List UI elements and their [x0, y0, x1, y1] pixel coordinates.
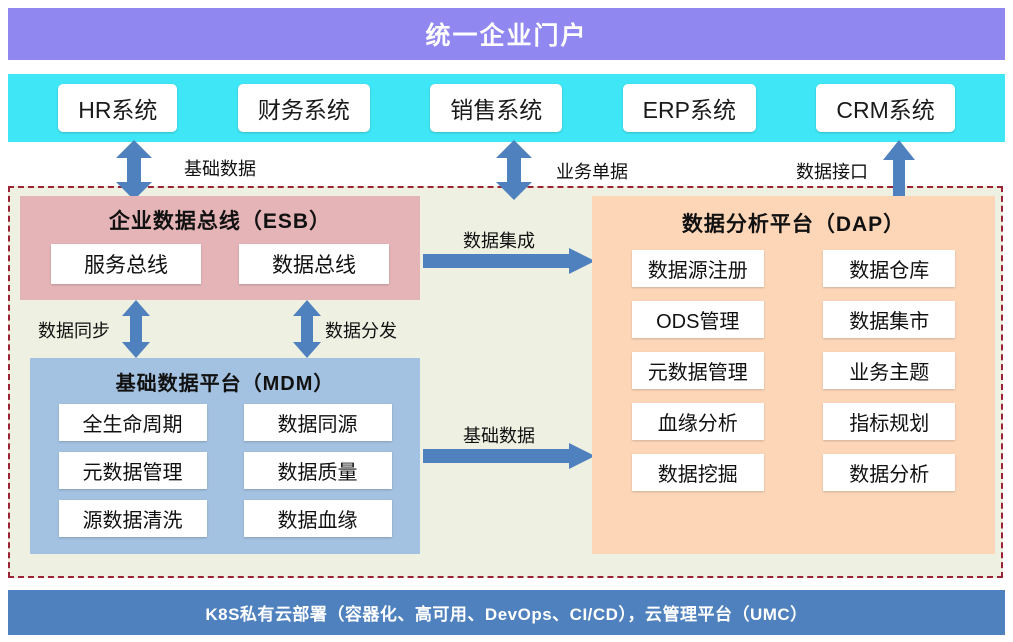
arrow-data-dispatch-vertical [290, 300, 324, 358]
arrow-basic-data-vertical [112, 140, 156, 200]
dap-chip-data-analysis[interactable]: 数据分析 [823, 454, 955, 491]
dap-chip-metadata-mgmt[interactable]: 元数据管理 [632, 352, 764, 389]
system-chip-finance[interactable]: 财务系统 [238, 84, 370, 132]
dap-chip-metric-planning[interactable]: 指标规划 [823, 403, 955, 440]
mdm-chip-grid: 全生命周期 元数据管理 源数据清洗 数据同源 数据质量 数据血缘 [30, 404, 420, 537]
dap-panel: 数据分析平台（DAP） 数据源注册 ODS管理 元数据管理 血缘分析 数据挖掘 … [592, 196, 995, 554]
mdm-chip-lifecycle[interactable]: 全生命周期 [59, 404, 207, 441]
dap-chip-business-subject[interactable]: 业务主题 [823, 352, 955, 389]
mdm-title: 基础数据平台（MDM） [30, 358, 420, 396]
mdm-chip-data-quality[interactable]: 数据质量 [244, 452, 392, 489]
dap-column-left: 数据源注册 ODS管理 元数据管理 血缘分析 数据挖掘 [632, 250, 764, 491]
esb-chip-data-bus[interactable]: 数据总线 [239, 244, 389, 284]
esb-title: 企业数据总线（ESB） [20, 196, 420, 235]
systems-band: HR系统 财务系统 销售系统 ERP系统 CRM系统 [8, 74, 1005, 142]
mdm-chip-data-homology[interactable]: 数据同源 [244, 404, 392, 441]
label-business-doc: 业务单据 [556, 158, 628, 184]
dap-chip-lineage-analysis[interactable]: 血缘分析 [632, 403, 764, 440]
arrow-data-sync-vertical [119, 300, 153, 358]
architecture-diagram: 统一企业门户 HR系统 财务系统 销售系统 ERP系统 CRM系统 基础数据 业… [0, 0, 1013, 642]
dap-title: 数据分析平台（DAP） [592, 196, 995, 238]
mdm-chip-source-cleaning[interactable]: 源数据清洗 [59, 500, 207, 537]
infrastructure-bar: K8S私有云部署（容器化、高可用、DevOps、CI/CD），云管理平台（UMC… [8, 590, 1005, 635]
infrastructure-text: K8S私有云部署（容器化、高可用、DevOps、CI/CD），云管理平台（UMC… [205, 600, 807, 625]
dap-chip-data-warehouse[interactable]: 数据仓库 [823, 250, 955, 287]
label-basic-data-top: 基础数据 [184, 155, 256, 181]
arrow-business-doc-vertical [492, 140, 536, 200]
dap-column-right: 数据仓库 数据集市 业务主题 指标规划 数据分析 [823, 250, 955, 491]
dap-chip-data-mining[interactable]: 数据挖掘 [632, 454, 764, 491]
dap-chip-data-mart[interactable]: 数据集市 [823, 301, 955, 338]
dap-chip-grid: 数据源注册 ODS管理 元数据管理 血缘分析 数据挖掘 数据仓库 数据集市 业务… [592, 250, 995, 491]
dap-chip-ods-mgmt[interactable]: ODS管理 [632, 301, 764, 338]
label-data-dispatch: 数据分发 [325, 317, 397, 343]
portal-bar: 统一企业门户 [8, 8, 1005, 60]
label-data-integration: 数据集成 [463, 227, 535, 253]
arrow-data-interface-vertical [882, 140, 916, 200]
mdm-chip-metadata-mgmt[interactable]: 元数据管理 [59, 452, 207, 489]
dap-chip-datasource-register[interactable]: 数据源注册 [632, 250, 764, 287]
esb-chip-service-bus[interactable]: 服务总线 [51, 244, 201, 284]
esb-panel: 企业数据总线（ESB） 服务总线 数据总线 [20, 196, 420, 300]
mdm-column-left: 全生命周期 元数据管理 源数据清洗 [59, 404, 207, 537]
label-data-sync: 数据同步 [38, 317, 110, 343]
mdm-column-right: 数据同源 数据质量 数据血缘 [244, 404, 392, 537]
mdm-chip-data-lineage[interactable]: 数据血缘 [244, 500, 392, 537]
esb-chip-list: 服务总线 数据总线 [20, 244, 420, 284]
portal-title: 统一企业门户 [425, 16, 587, 52]
mdm-panel: 基础数据平台（MDM） 全生命周期 元数据管理 源数据清洗 数据同源 数据质量 … [30, 358, 420, 554]
system-chip-hr[interactable]: HR系统 [58, 84, 177, 132]
system-chip-crm[interactable]: CRM系统 [816, 84, 954, 132]
system-chip-sales[interactable]: 销售系统 [430, 84, 562, 132]
system-chip-erp[interactable]: ERP系统 [623, 84, 756, 132]
label-basic-data-mid: 基础数据 [463, 422, 535, 448]
label-data-interface: 数据接口 [796, 158, 868, 184]
